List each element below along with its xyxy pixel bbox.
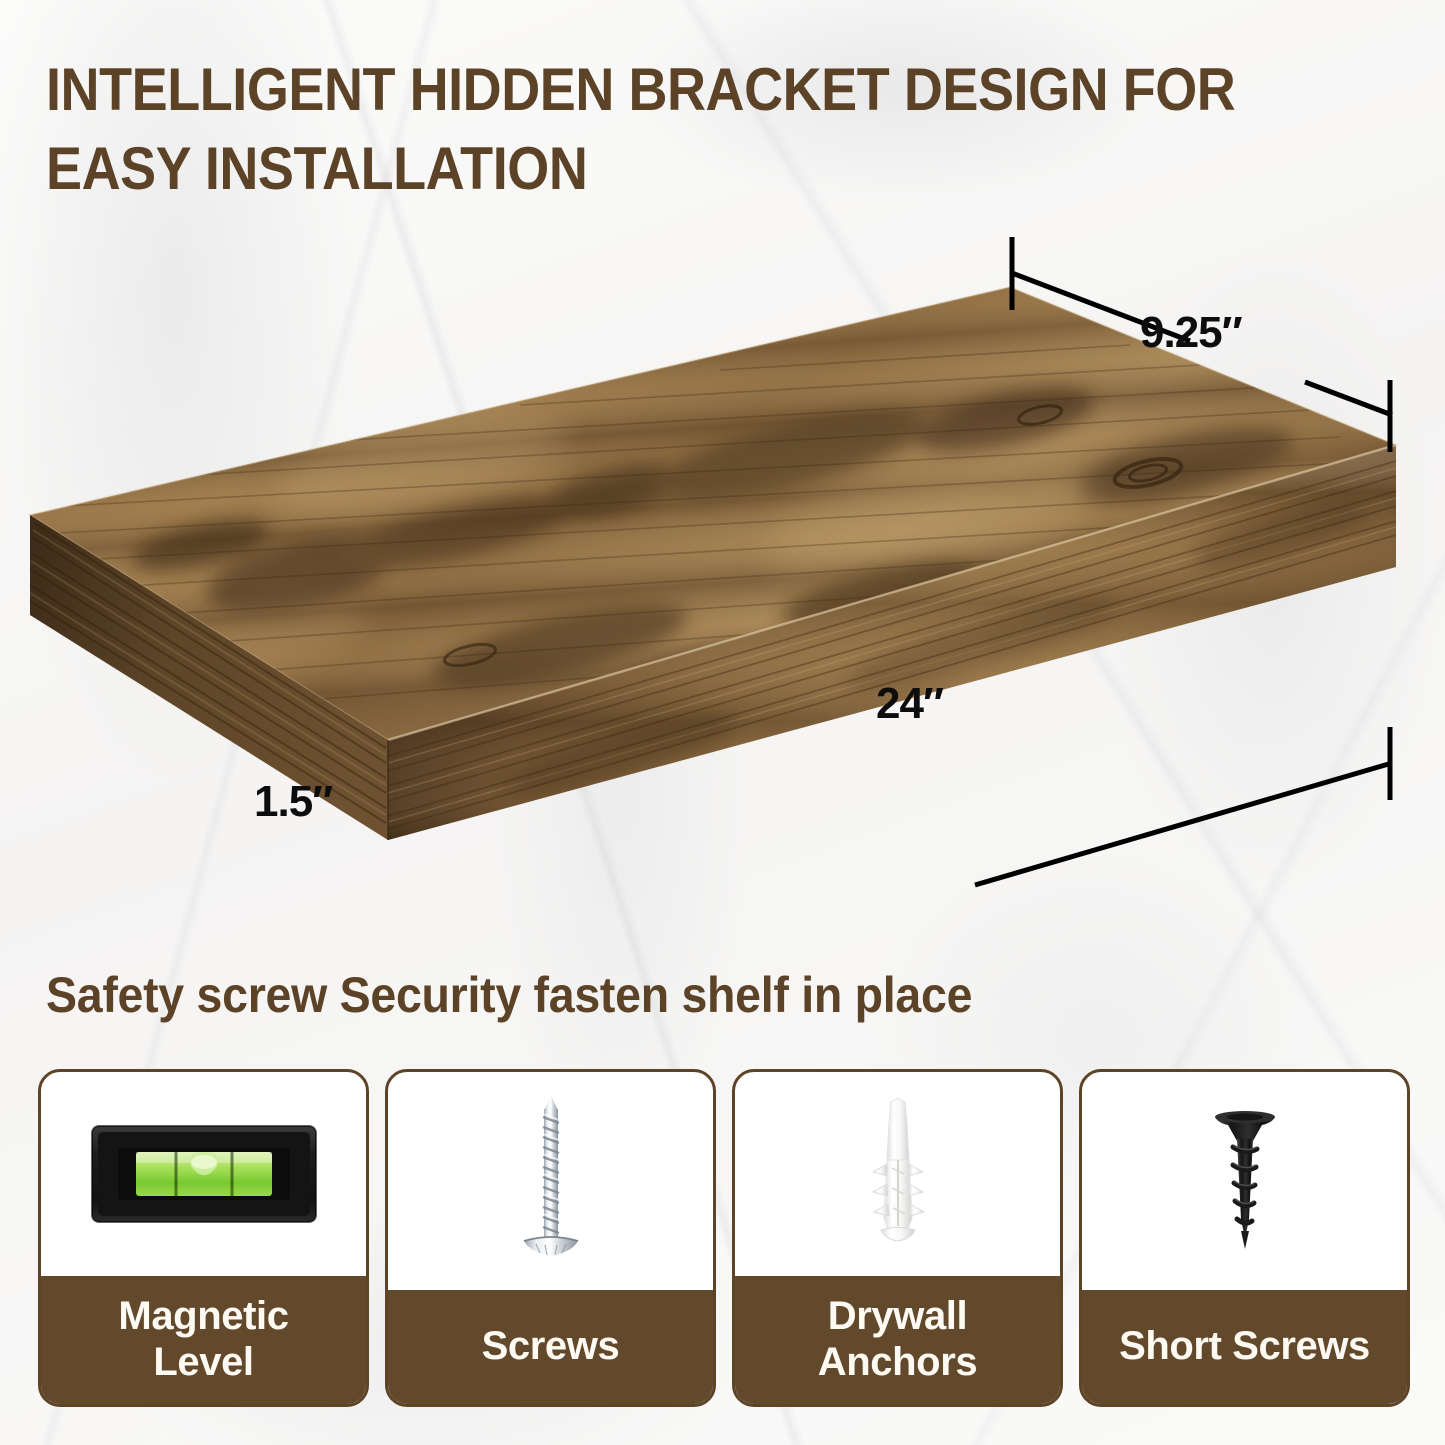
section-subheading: Safety screw Security fasten shelf in pl… <box>46 968 1292 1023</box>
accessory-card-magnetic-level[interactable]: Magnetic Level <box>38 1069 369 1407</box>
accessory-art <box>388 1072 713 1290</box>
accessories-row: Magnetic Level <box>38 1069 1410 1407</box>
accessory-card-screws[interactable]: Screws <box>385 1069 716 1407</box>
accessory-label: Drywall Anchors <box>735 1276 1060 1404</box>
dimension-label-depth: 9.25″ <box>1140 308 1242 358</box>
accessory-card-drywall-anchors[interactable]: Drywall Anchors <box>732 1069 1063 1407</box>
accessory-label: Short Screws <box>1082 1290 1407 1404</box>
short-screw-icon <box>1199 1107 1291 1255</box>
accessory-label: Magnetic Level <box>41 1276 366 1404</box>
accessory-label: Screws <box>388 1290 713 1404</box>
accessory-card-short-screws[interactable]: Short Screws <box>1079 1069 1410 1407</box>
dimension-label-thickness: 1.5″ <box>254 777 332 827</box>
dimension-label-width: 24″ <box>876 679 943 729</box>
accessory-art <box>735 1072 1060 1276</box>
accessory-art <box>41 1072 366 1276</box>
accessory-art <box>1082 1072 1407 1290</box>
long-screw-icon <box>516 1093 586 1269</box>
page-headline: INTELLIGENT HIDDEN BRACKET DESIGN FOR EA… <box>46 50 1270 208</box>
magnetic-level-icon <box>88 1118 320 1230</box>
drywall-anchor-icon <box>859 1098 937 1250</box>
